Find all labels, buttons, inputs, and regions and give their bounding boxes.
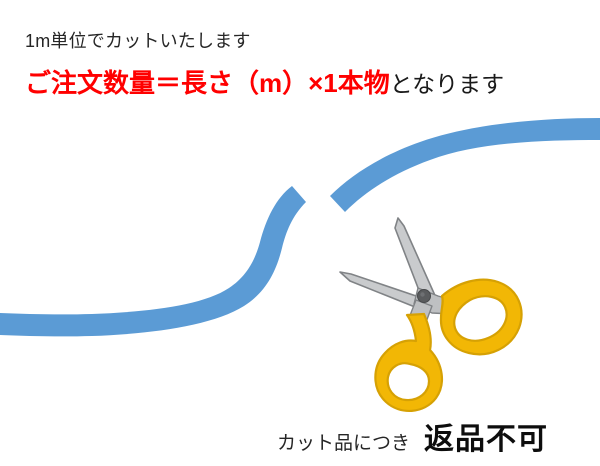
footer-notice: カット品につき返品不可 bbox=[277, 414, 548, 458]
footer-prefix: カット品につき bbox=[277, 433, 410, 454]
notice-suffix: となります bbox=[390, 71, 504, 97]
footer-emphasis: 返品不可 bbox=[424, 423, 548, 456]
scissors-pivot-screw bbox=[418, 290, 431, 303]
illustration-canvas: 1m単位でカットいたします ご注文数量＝長さ（m）×1本物となります カット品に… bbox=[0, 0, 600, 466]
notice-line-1: 1m単位でカットいたします bbox=[25, 29, 251, 53]
notice-line-2: ご注文数量＝長さ（m）×1本物となります bbox=[25, 66, 504, 101]
blue-cord-lower-segment bbox=[0, 186, 306, 336]
notice-emphasis: ご注文数量＝長さ（m）×1本物 bbox=[25, 68, 390, 98]
scissors bbox=[340, 218, 521, 411]
scissors-handle-upper bbox=[441, 280, 522, 355]
blue-cord-upper-segment bbox=[330, 118, 600, 212]
scissors-handle-lower bbox=[375, 314, 442, 411]
